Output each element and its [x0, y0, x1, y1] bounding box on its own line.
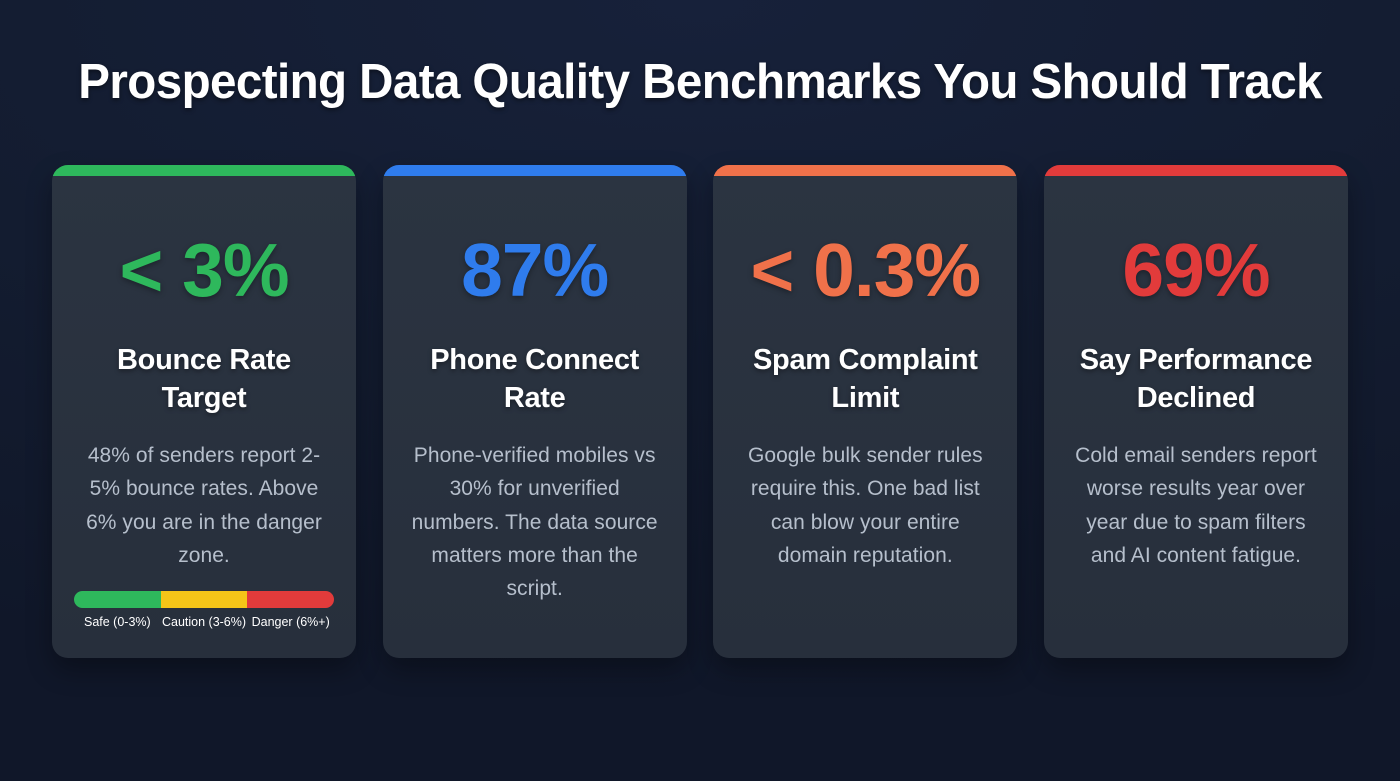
accent-bar	[52, 165, 356, 176]
stat-value: < 3%	[119, 233, 288, 308]
risk-scale: Safe (0-3%) Caution (3-6%) Danger (6%+)	[74, 591, 334, 630]
page-title: Prospecting Data Quality Benchmarks You …	[78, 56, 1322, 109]
stat-label: Bounce Rate Target	[74, 342, 334, 417]
stat-description: 48% of senders report 2-5% bounce rates.…	[74, 439, 334, 572]
accent-bar	[1044, 165, 1348, 176]
risk-scale-segment-caution	[161, 591, 248, 608]
risk-scale-labels: Safe (0-3%) Caution (3-6%) Danger (6%+)	[74, 615, 334, 630]
stat-description: Cold email senders report worse results …	[1066, 439, 1326, 572]
stat-value: < 0.3%	[751, 233, 981, 308]
stat-label: Phone Connect Rate	[405, 342, 665, 417]
stat-description: Phone-verified mobiles vs 30% for unveri…	[405, 439, 665, 605]
stat-cards-row: < 3% Bounce Rate Target 48% of senders r…	[52, 165, 1348, 658]
stat-card-bounce-rate[interactable]: < 3% Bounce Rate Target 48% of senders r…	[52, 165, 356, 658]
accent-bar	[383, 165, 687, 176]
risk-scale-label-safe: Safe (0-3%)	[74, 615, 161, 630]
stat-card-phone-connect[interactable]: 87% Phone Connect Rate Phone-verified mo…	[383, 165, 687, 658]
risk-scale-label-caution: Caution (3-6%)	[161, 615, 248, 630]
stat-value: 87%	[461, 233, 608, 308]
stat-label: Say Performance Declined	[1066, 342, 1326, 417]
risk-scale-segment-danger	[247, 591, 334, 608]
accent-bar	[713, 165, 1017, 176]
stat-label: Spam Complaint Limit	[735, 342, 995, 417]
risk-scale-bar	[74, 591, 334, 608]
risk-scale-label-danger: Danger (6%+)	[247, 615, 334, 630]
stat-card-spam-complaint[interactable]: < 0.3% Spam Complaint Limit Google bulk …	[713, 165, 1017, 658]
risk-scale-segment-safe	[74, 591, 161, 608]
stat-card-performance-declined[interactable]: 69% Say Performance Declined Cold email …	[1044, 165, 1348, 658]
stat-description: Google bulk sender rules require this. O…	[735, 439, 995, 572]
infographic-root: Prospecting Data Quality Benchmarks You …	[0, 0, 1400, 781]
stat-value: 69%	[1122, 233, 1269, 308]
